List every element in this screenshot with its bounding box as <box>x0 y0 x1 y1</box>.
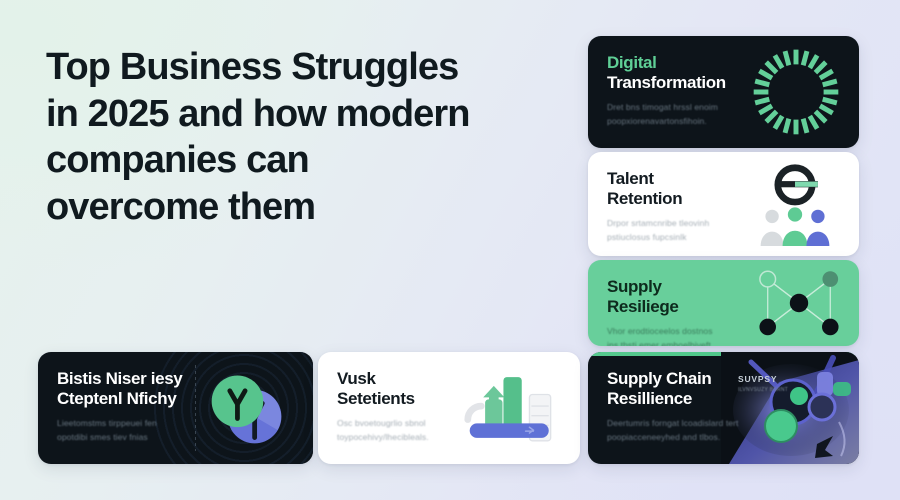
card-content: Supply Chain Resillience Deertumris forn… <box>588 352 859 464</box>
card-body: Drpor srtamcnribe tleovinh pstiuclosus f… <box>607 217 757 245</box>
card-body-line-2: ins thsti emer emboelbiveft. <box>607 339 757 346</box>
card-body-line-2: opotdibi smes tiev fnias <box>57 431 207 445</box>
card-talent-retention[interactable]: Talent Retention Drpor srtamcnribe tleov… <box>588 152 859 256</box>
card-title-line-2: Resillience <box>607 389 840 409</box>
card-body-line-2: poopiacceneeyhed and tlbos. <box>607 431 769 445</box>
network-nodes-icon <box>753 265 845 341</box>
card-body-line-2: pstiuclosus fupcsinlk <box>607 231 757 245</box>
headline-line-4: overcome them <box>46 184 566 231</box>
card-body-line-1: Vhor erodtioceelos dostnos <box>607 325 757 339</box>
card-digital-transformation[interactable]: Digital Transformation Dret bns timogat … <box>588 36 859 148</box>
overlapping-circles-icon <box>199 365 295 451</box>
radial-burst-ring-icon <box>750 46 842 138</box>
growth-bar-chart-icon <box>462 367 568 449</box>
poster-canvas: Top Business Struggles in 2025 and how m… <box>0 0 900 500</box>
card-body-line-1: Deertumris forngat lcoadislard tert <box>607 417 769 431</box>
people-group-icon <box>747 162 843 246</box>
card-body-line-1: Lieetomstms tirppeuei fen <box>57 417 207 431</box>
page-title: Top Business Struggles in 2025 and how m… <box>46 44 566 231</box>
headline-line-2: in 2025 and how modern <box>46 91 566 138</box>
card-body-line-1: Drpor srtamcnribe tleovinh <box>607 217 757 231</box>
card-body-line-2: poopxiorenavartonsfihoin. <box>607 115 757 129</box>
card-body: Vhor erodtioceelos dostnos ins thsti eme… <box>607 325 757 346</box>
card-bottom-left[interactable]: Bistis Niser iesy Cteptenl Nfichy Lieeto… <box>38 352 313 464</box>
card-body-line-1: Dret bns timogat hrssl enoim <box>607 101 757 115</box>
card-body: Deertumris forngat lcoadislard tert poop… <box>607 417 769 445</box>
card-title: Supply Chain Resillience <box>607 369 840 408</box>
card-bottom-middle[interactable]: Vusk Setetients Osc bvoetougrlio sbnol t… <box>318 352 580 464</box>
card-supply-resilience-green[interactable]: Supply Resiliege Vhor erodtioceelos dost… <box>588 260 859 346</box>
card-body: Dret bns timogat hrssl enoim poopxiorena… <box>607 101 757 129</box>
card-body: Lieetomstms tirppeuei fen opotdibi smes … <box>57 417 207 445</box>
card-supply-chain-resilience[interactable]: SUVPSY ILVNVSUZY BSRNT Supply Chain Resi… <box>588 352 859 464</box>
headline-line-1: Top Business Struggles <box>46 44 566 91</box>
card-title-line-1: Supply Chain <box>607 369 840 389</box>
headline-line-3: companies can <box>46 137 566 184</box>
